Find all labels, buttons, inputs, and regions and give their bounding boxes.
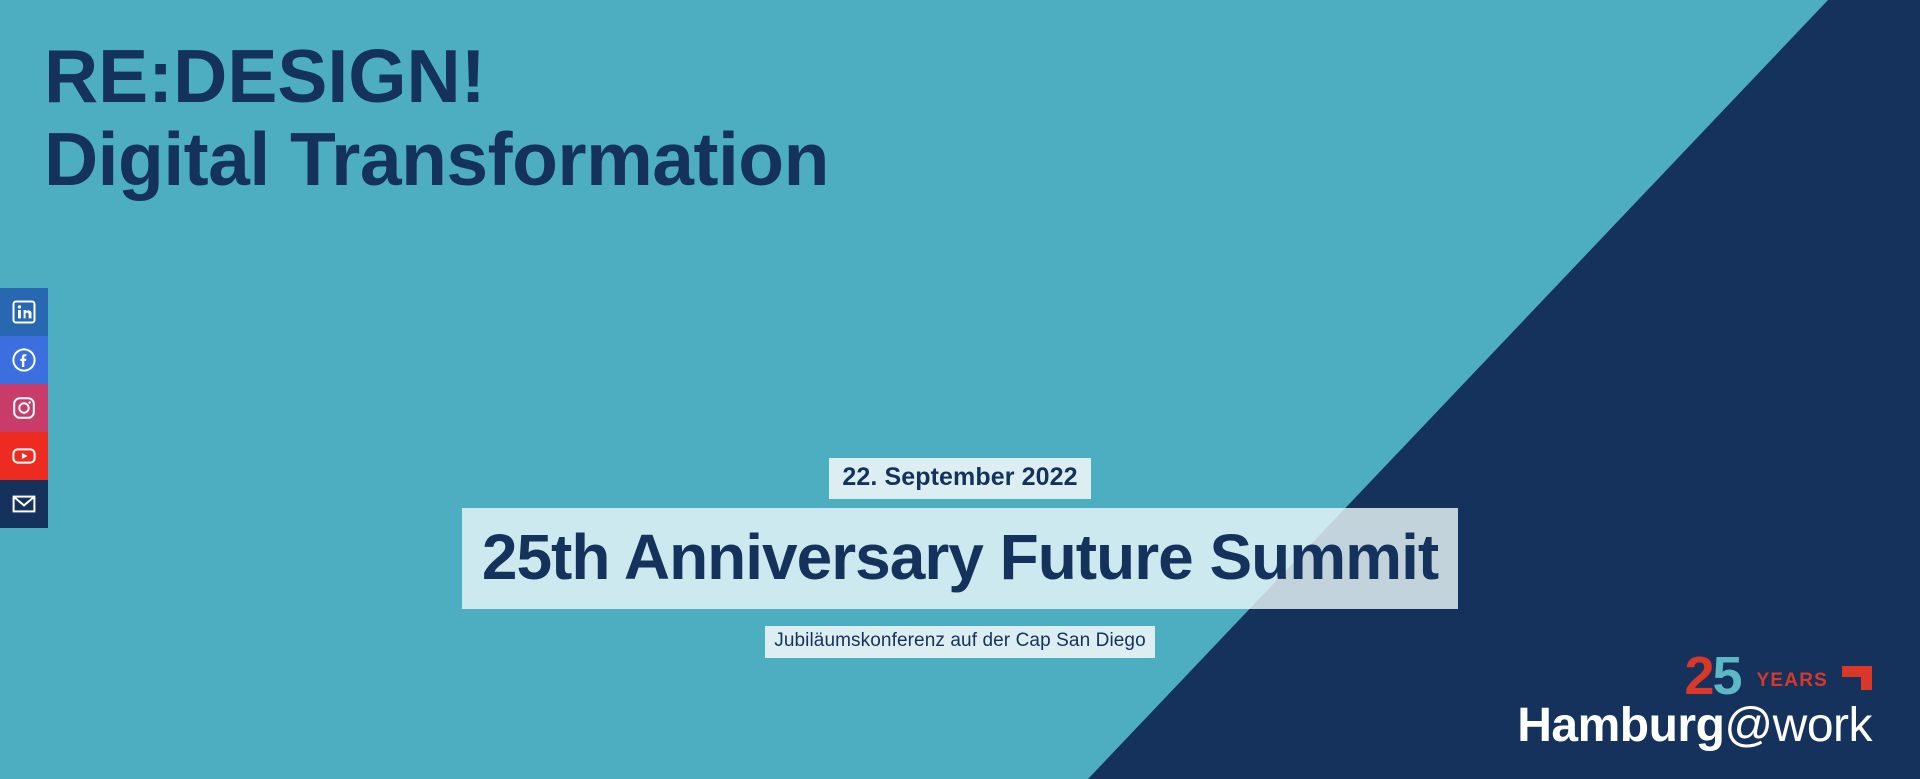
anniversary-years-label: YEARS [1757, 671, 1828, 690]
brand-logo[interactable]: 2 5 YEARS Hamburg@work [1517, 651, 1872, 751]
social-link-instagram[interactable] [0, 384, 48, 432]
anniversary-digit-2: 2 [1685, 649, 1713, 703]
social-links-rail [0, 288, 48, 528]
social-link-email[interactable] [0, 480, 48, 528]
anniversary-number: 2 5 [1685, 651, 1755, 699]
facebook-icon [11, 347, 37, 373]
headline-line-1: RE:DESIGN! [44, 38, 829, 115]
anniversary-badge: 2 5 YEARS [1517, 651, 1872, 699]
event-date: 22. September 2022 [829, 458, 1090, 499]
hero-banner: RE:DESIGN! Digital Transformation [0, 0, 1920, 779]
wordmark-hamburg: Hamburg [1517, 699, 1724, 752]
mail-icon [11, 491, 37, 517]
linkedin-icon [11, 299, 37, 325]
event-subtitle: Jubiläumskonferenz auf der Cap San Diego [765, 626, 1155, 658]
wordmark-work: work [1773, 699, 1872, 752]
wordmark-at-symbol: @ [1724, 699, 1772, 752]
corner-mark-icon [1842, 666, 1872, 690]
brand-wordmark: Hamburg@work [1517, 701, 1872, 751]
social-link-facebook[interactable] [0, 336, 48, 384]
youtube-icon [11, 443, 37, 469]
instagram-icon [11, 395, 37, 421]
social-link-youtube[interactable] [0, 432, 48, 480]
event-title: 25th Anniversary Future Summit [462, 508, 1458, 610]
headline-line-2: Digital Transformation [44, 121, 829, 198]
anniversary-digit-5: 5 [1713, 649, 1741, 703]
page-title: RE:DESIGN! Digital Transformation [44, 38, 829, 197]
event-banner-stack: 22. September 2022 25th Anniversary Futu… [0, 458, 1920, 658]
social-link-linkedin[interactable] [0, 288, 48, 336]
